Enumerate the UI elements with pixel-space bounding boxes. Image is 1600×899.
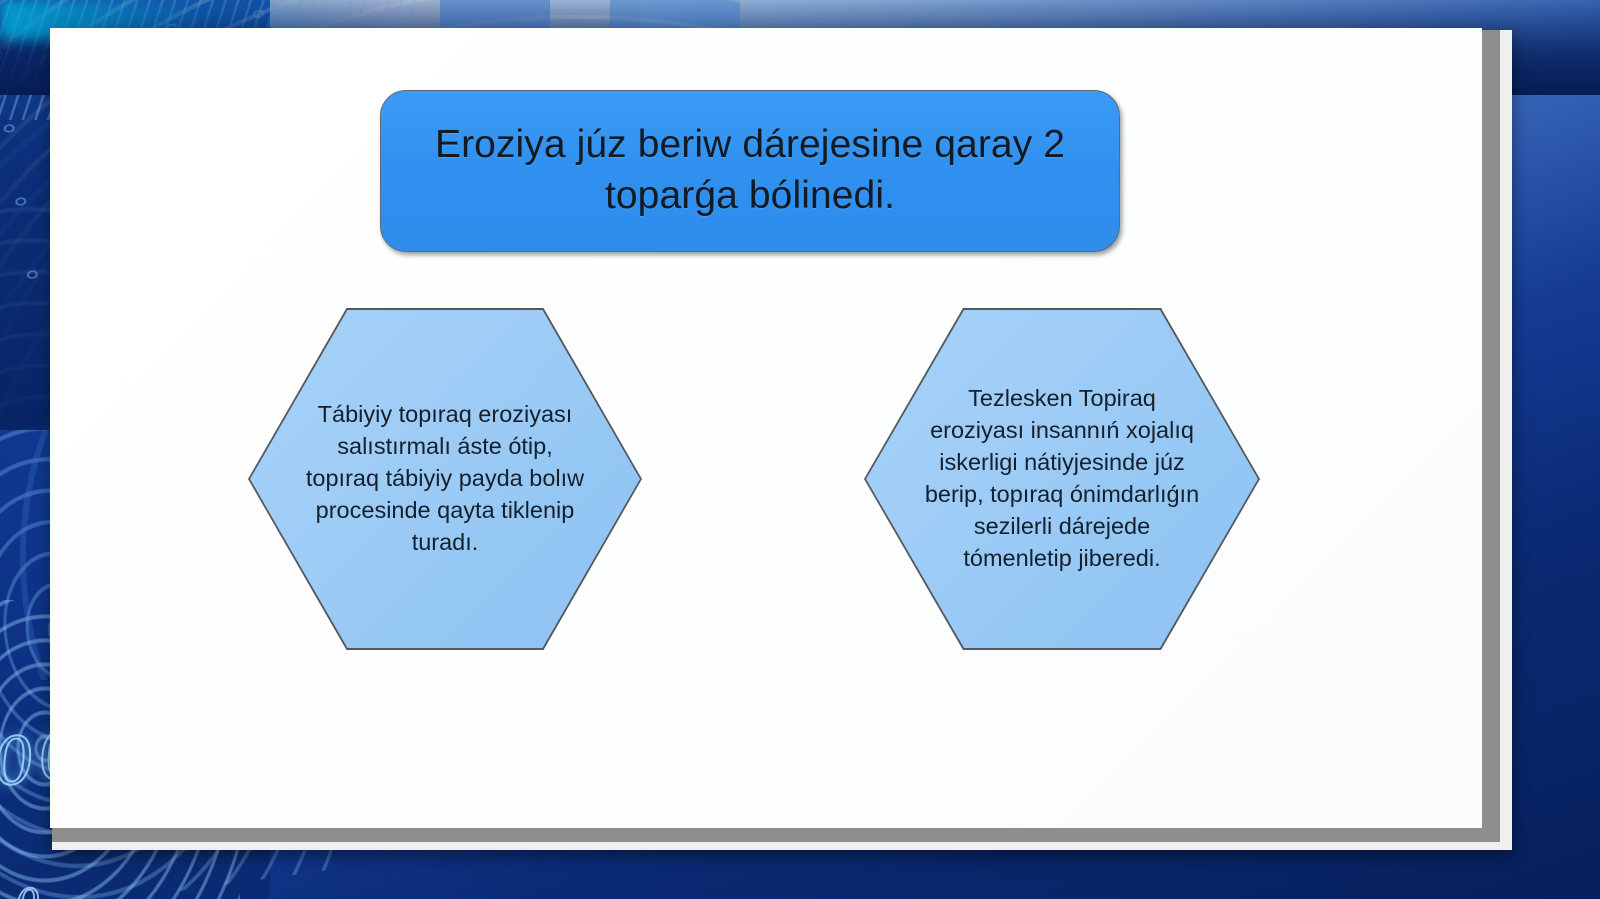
slide-canvas[interactable]: Eroziya júz beriw dárejesine qaray 2 top… bbox=[50, 28, 1482, 828]
hexagon-right[interactable]: Tezlesken Topiraq eroziyası insannıń xoj… bbox=[864, 308, 1260, 650]
hexagon-left-label: Tábiyiy topıraq eroziyası salıstırmalı á… bbox=[248, 308, 642, 650]
hexagon-right-label: Tezlesken Topiraq eroziyası insannıń xoj… bbox=[864, 308, 1260, 650]
presentation-backdrop: 000 0 Eroziya júz beriw dárejesine qaray… bbox=[0, 0, 1600, 899]
title-shape[interactable]: Eroziya júz beriw dárejesine qaray 2 top… bbox=[380, 90, 1120, 252]
hexagon-left[interactable]: Tábiyiy topıraq eroziyası salıstırmalı á… bbox=[248, 308, 642, 650]
page-title: Eroziya júz beriw dárejesine qaray 2 top… bbox=[407, 120, 1093, 221]
